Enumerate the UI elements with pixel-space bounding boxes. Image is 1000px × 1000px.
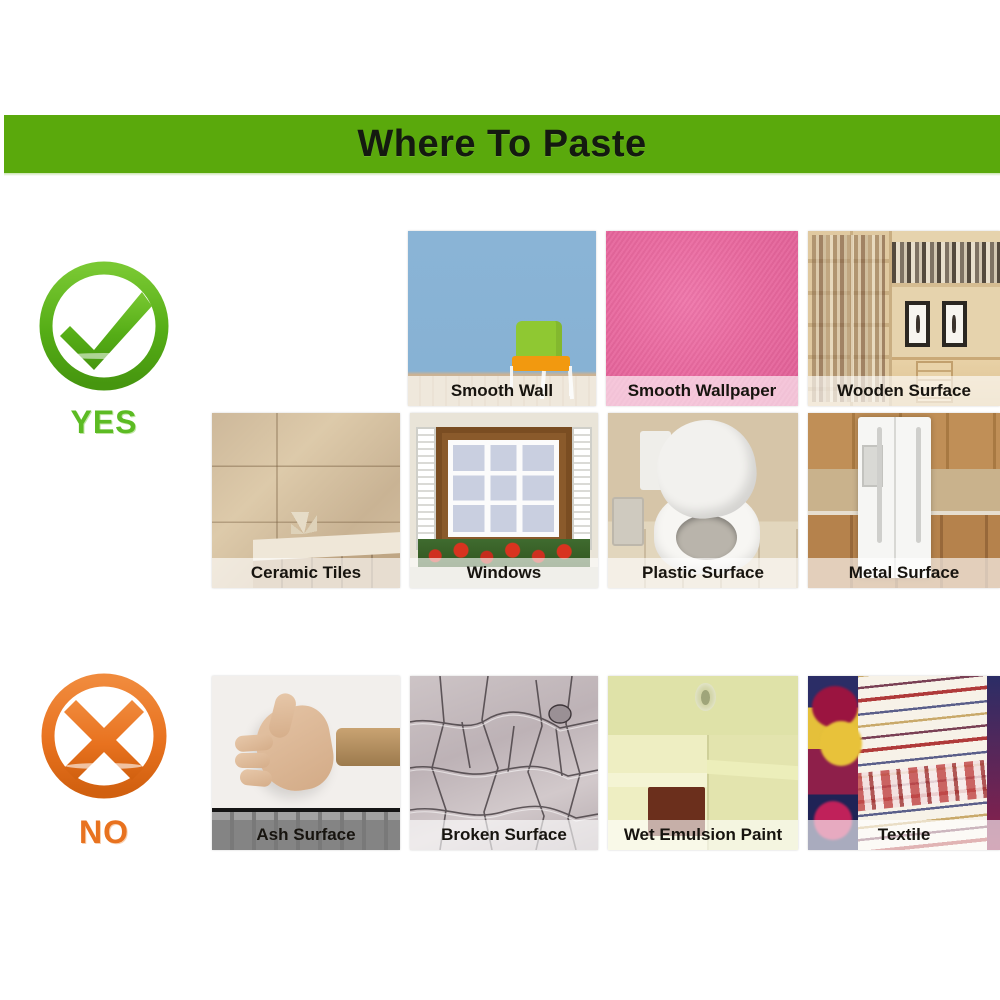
verdict-label-yes: YES (16, 404, 192, 441)
verdict-badge-yes: YES (16, 258, 192, 441)
banner-fade (4, 171, 1000, 176)
page-title: Where To Paste (357, 123, 646, 166)
tile-caption: Metal Surface (808, 558, 1000, 588)
tile-caption: Wooden Surface (808, 376, 1000, 406)
tile-caption: Textile (808, 820, 1000, 850)
tile-ash-surface[interactable]: Ash Surface (212, 676, 400, 850)
tile-caption: Wet Emulsion Paint (608, 820, 798, 850)
tile-caption: Windows (410, 558, 598, 588)
check-circle-icon (34, 258, 174, 398)
tile-wet-emulsion[interactable]: Wet Emulsion Paint (608, 676, 798, 850)
tile-smooth-wallpaper[interactable]: Smooth Wallpaper (606, 231, 798, 406)
tile-windows[interactable]: Windows (410, 413, 598, 588)
tile-caption: Smooth Wall (408, 376, 596, 406)
tile-wooden-surface[interactable]: Wooden Surface (808, 231, 1000, 406)
tile-caption: Smooth Wallpaper (606, 376, 798, 406)
tile-plastic-surface[interactable]: Plastic Surface (608, 413, 798, 588)
tile-smooth-wall[interactable]: Smooth Wall (408, 231, 596, 406)
tile-broken-surface[interactable]: Broken Surface (410, 676, 598, 850)
tile-caption: Ash Surface (212, 820, 400, 850)
title-banner: Where To Paste (4, 115, 1000, 173)
tile-caption: Broken Surface (410, 820, 598, 850)
tile-textile[interactable]: Textile (808, 676, 1000, 850)
infographic-page: Where To Paste YES (0, 0, 1000, 1000)
tile-caption: Ceramic Tiles (212, 558, 400, 588)
verdict-label-no: NO (16, 814, 192, 851)
tile-caption: Plastic Surface (608, 558, 798, 588)
tile-metal-surface[interactable]: Metal Surface (808, 413, 1000, 588)
verdict-badge-no: NO (16, 668, 192, 851)
tile-ceramic-tiles[interactable]: Ceramic Tiles (212, 413, 400, 588)
x-circle-icon (34, 668, 174, 808)
